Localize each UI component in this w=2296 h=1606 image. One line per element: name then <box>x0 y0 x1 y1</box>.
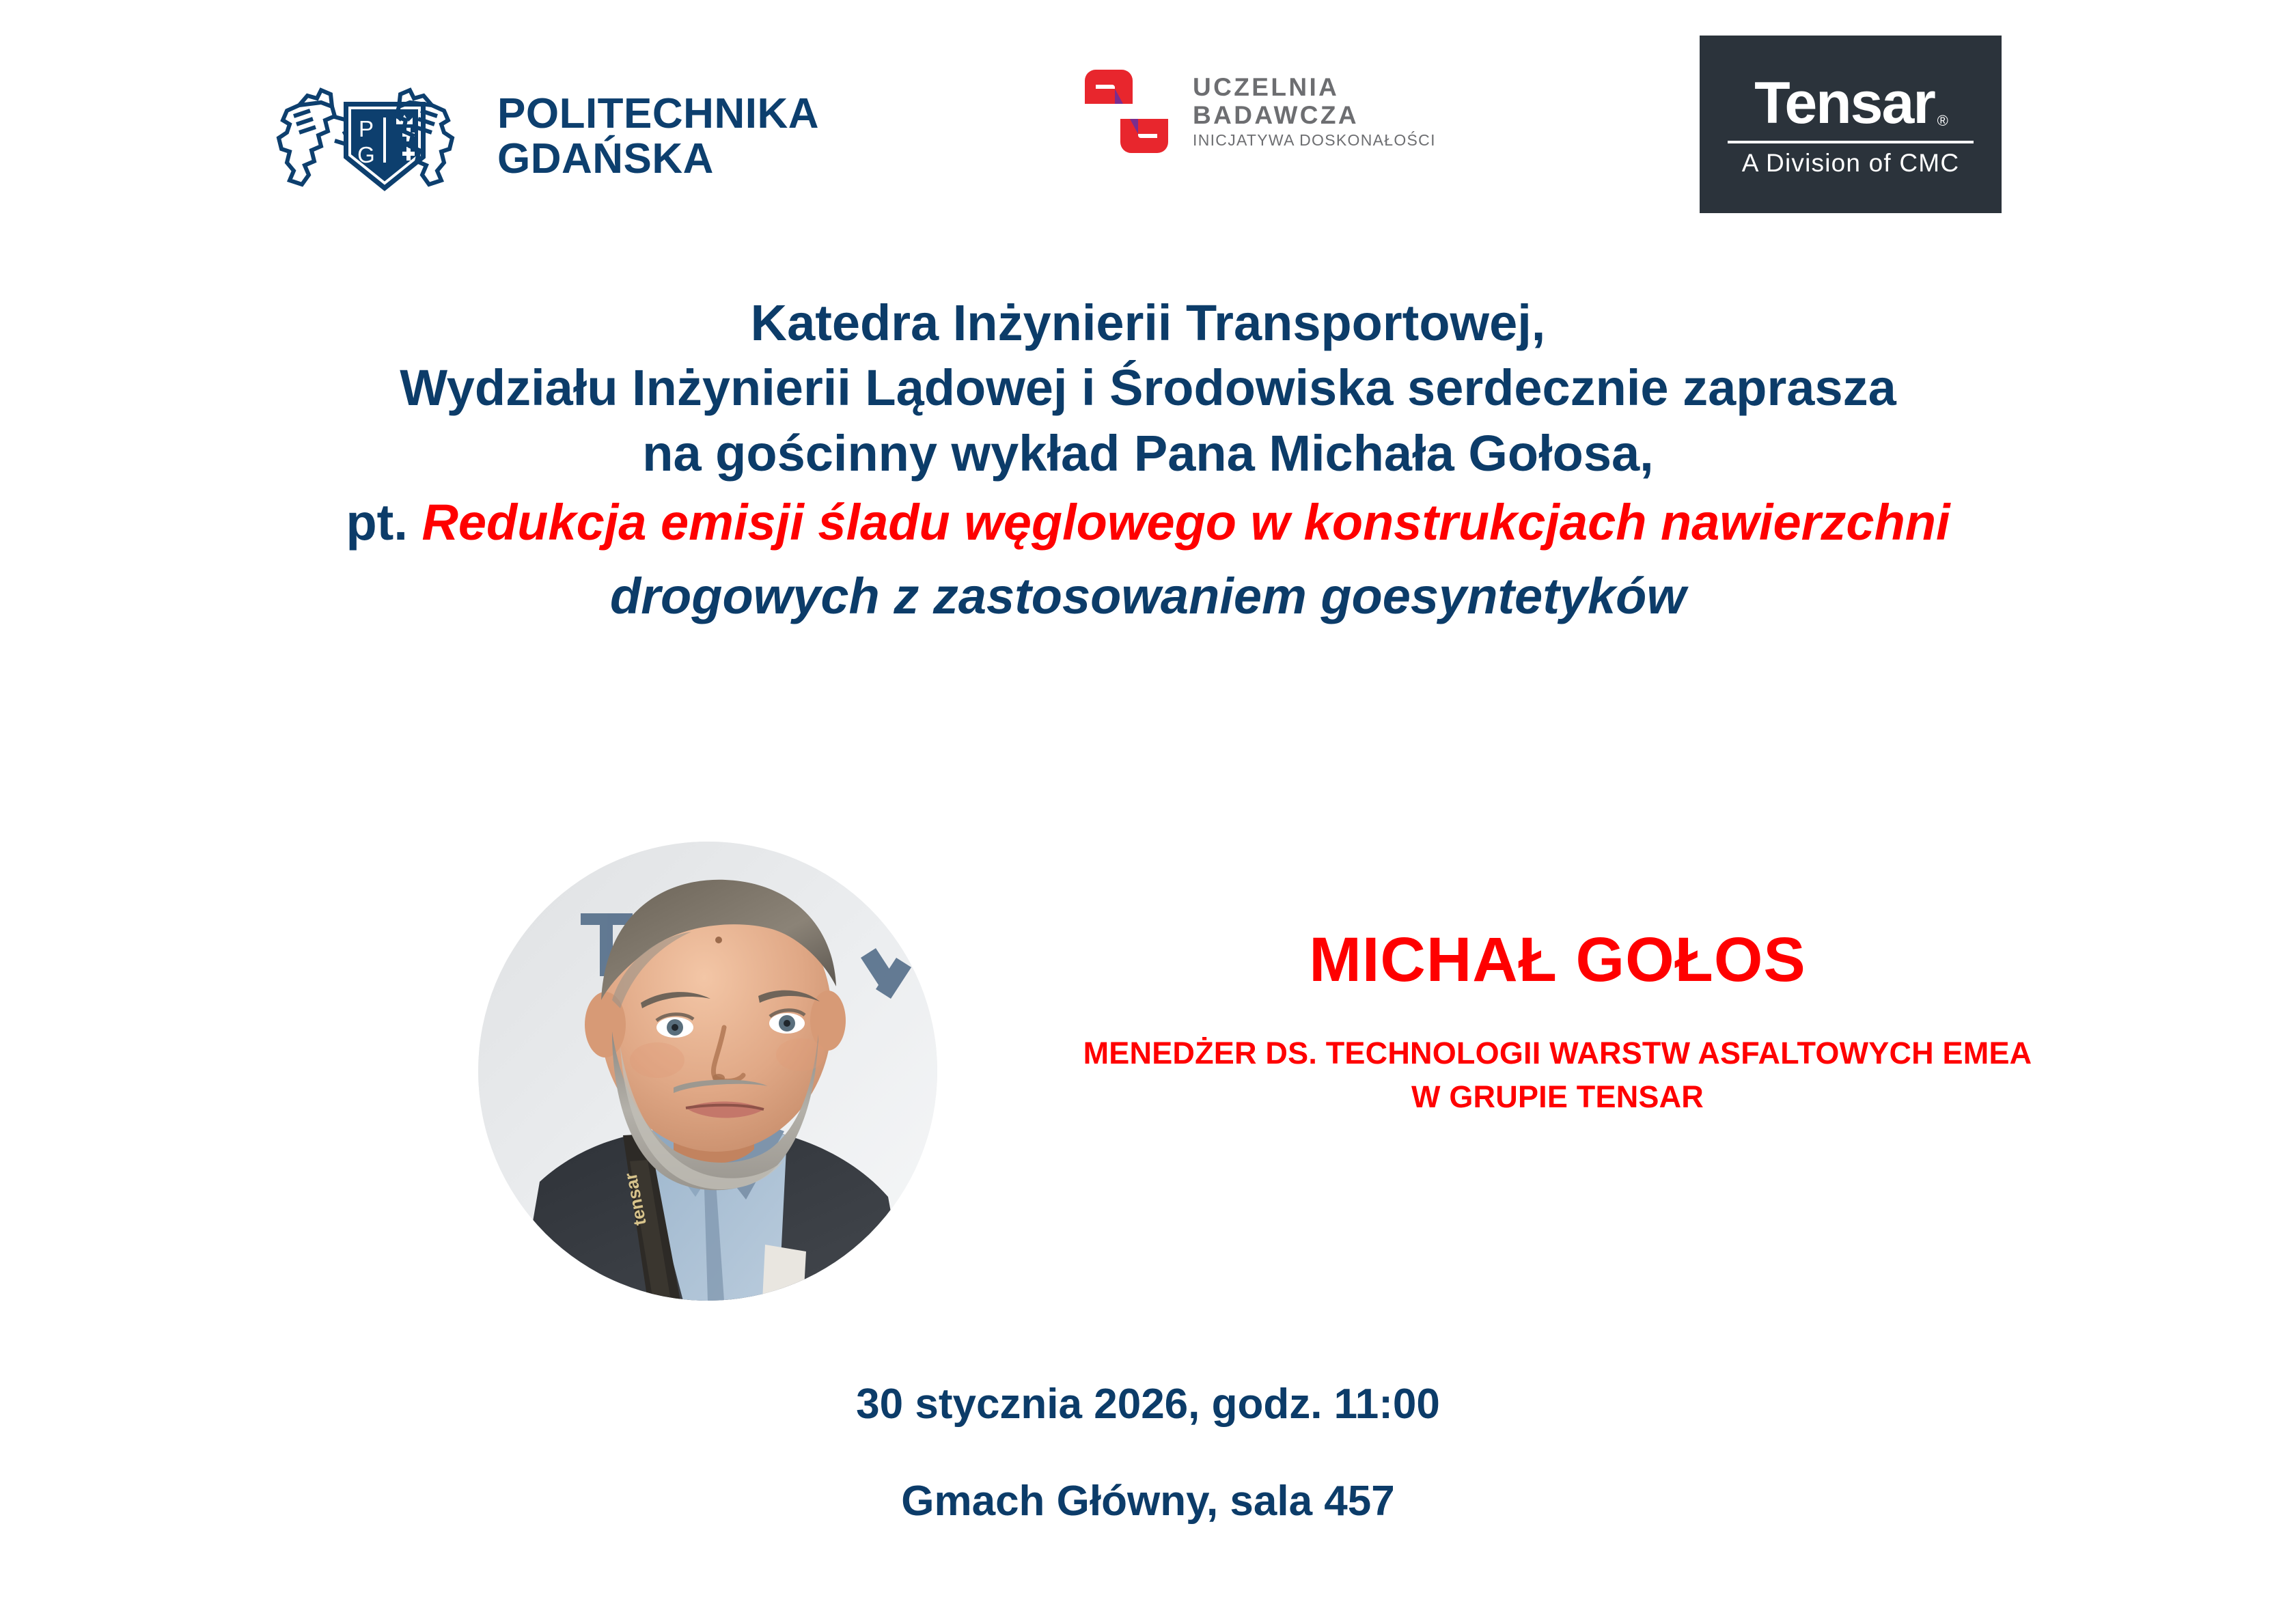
speaker-role-line-2: W GRUPIE TENSAR <box>977 1075 2138 1119</box>
invitation-line-2: Wydziału Inżynierii Lądowej i Środowiska… <box>0 355 2296 420</box>
pg-wordmark: POLITECHNIKA GDAŃSKA <box>497 92 819 181</box>
ub-line2: BADAWCZA <box>1193 102 1436 128</box>
tensar-divider <box>1728 141 1974 143</box>
logo-bar: P G POLITECHNIKA GDAŃSK <box>0 0 2296 225</box>
ub-line3: INICJATYWA DOSKONAŁOŚCI <box>1193 133 1436 148</box>
svg-text:P: P <box>359 116 374 141</box>
tensar-tagline: A Division of CMC <box>1742 150 1960 176</box>
registered-trademark-icon: ® <box>1937 113 1947 128</box>
pg-wordmark-line2: GDAŃSKA <box>497 137 819 182</box>
lecture-title-line-2: drogowych z zastosowaniem goesyntetyków <box>0 559 2296 633</box>
logo-tensar: Tensar® A Division of CMC <box>1700 36 2002 213</box>
pt-label: pt. <box>346 494 421 551</box>
invitation-heading: Katedra Inżynierii Transportowej, Wydzia… <box>0 290 2296 633</box>
pg-coat-of-arms-icon: P G <box>266 75 465 198</box>
invitation-line-3: na gościnny wykład Pana Michała Gołosa, <box>0 421 2296 486</box>
speaker-role-line-1: MENEDŻER DS. TECHNOLOGII WARSTW ASFALTOW… <box>977 1032 2138 1075</box>
pg-wordmark-line1: POLITECHNIKA <box>497 92 819 137</box>
lecture-title-line-1: pt. Redukcja emisji śladu węglowego w ko… <box>0 486 2296 559</box>
tensar-wordmark: Tensar® <box>1754 74 1947 133</box>
ub-line1: UCZELNIA <box>1193 74 1436 100</box>
invitation-poster: P G POLITECHNIKA GDAŃSK <box>0 0 2296 1606</box>
ub-interlock-icon <box>1078 60 1175 163</box>
invitation-line-1: Katedra Inżynierii Transportowej, <box>0 290 2296 355</box>
svg-text:G: G <box>357 142 375 167</box>
logo-uczelnia-badawcza: UCZELNIA BADAWCZA INICJATYWA DOSKONAŁOŚC… <box>1078 60 1436 163</box>
speaker-portrait: tensar <box>478 842 937 1301</box>
event-datetime: 30 stycznia 2026, godz. 11:00 <box>0 1383 2296 1426</box>
tensar-wordmark-text: Tensar <box>1754 70 1935 136</box>
speaker-info: MICHAŁ GOŁOS MENEDŻER DS. TECHNOLOGII WA… <box>977 926 2138 1119</box>
michal-golos-photo: tensar <box>478 842 937 1301</box>
speaker-name: MICHAŁ GOŁOS <box>977 926 2138 995</box>
event-details: 30 stycznia 2026, godz. 11:00 Gmach Głów… <box>0 1383 2296 1523</box>
logo-politechnika-gdanska: P G POLITECHNIKA GDAŃSK <box>266 75 819 198</box>
event-location: Gmach Główny, sala 457 <box>0 1480 2296 1523</box>
lecture-title-text-1: Redukcja emisji śladu węglowego w konstr… <box>421 494 1950 551</box>
ub-wordmark: UCZELNIA BADAWCZA INICJATYWA DOSKONAŁOŚC… <box>1193 74 1436 148</box>
speaker-role: MENEDŻER DS. TECHNOLOGII WARSTW ASFALTOW… <box>977 1032 2138 1119</box>
